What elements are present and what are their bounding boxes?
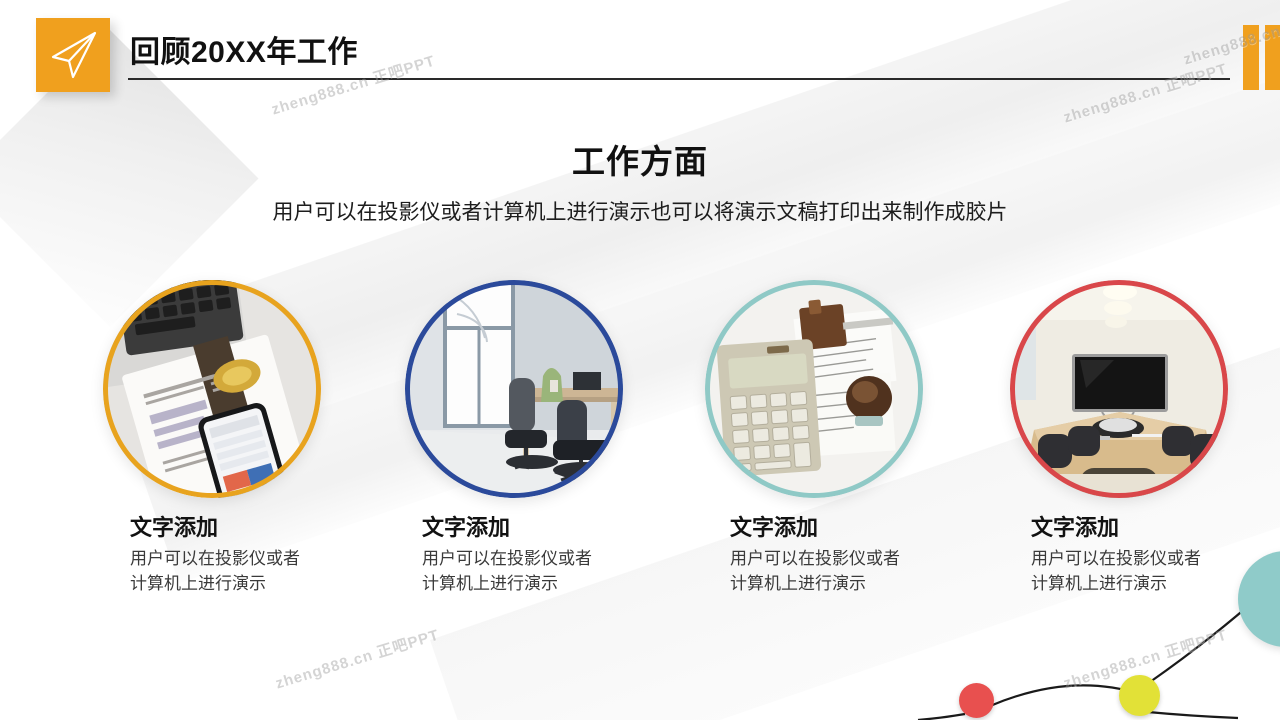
office-desk-window-photo [405,280,623,498]
page-title: 回顾20XX年工作 [130,27,358,71]
card-title: 文字添加 [422,514,700,542]
card-title: 文字添加 [1031,514,1280,542]
card-photo-circle [1010,280,1228,498]
card-body: 用户可以在投影仪或者 计算机上进行演示 [130,546,395,597]
calculator-notes-stamp-photo [705,280,923,498]
card-photo-circle [103,280,321,498]
card-body: 用户可以在投影仪或者 计算机上进行演示 [422,546,700,597]
content-card[interactable]: 文字添加 用户可以在投影仪或者 计算机上进行演示 [700,280,1000,597]
card-body: 用户可以在投影仪或者 计算机上进行演示 [1031,546,1280,597]
content-card[interactable]: 文字添加 用户可以在投影仪或者 计算机上进行演示 [95,280,395,597]
card-caption: 文字添加 用户可以在投影仪或者 计算机上进行演示 [1005,514,1280,597]
logo-tile [36,18,110,92]
watermark: zheng888.cn 正吧PPT [273,624,442,694]
section-subheading: 用户可以在投影仪或者计算机上进行演示也可以将演示文稿打印出来制作成胶片 [0,196,1280,226]
watermark: zheng888.cn 正吧PPT [1061,58,1230,128]
yellow-dot-decoration [1119,675,1160,716]
card-caption: 文字添加 用户可以在投影仪或者 计算机上进行演示 [700,514,1000,597]
meeting-room-tv-photo [1010,280,1228,498]
card-photo-circle [405,280,623,498]
card-body: 用户可以在投影仪或者 计算机上进行演示 [730,546,1000,597]
card-caption: 文字添加 用户可以在投影仪或者 计算机上进行演示 [95,514,395,597]
section-heading: 工作方面 [0,135,1280,183]
slide-canvas: 回顾20XX年工作 工作方面 用户可以在投影仪或者计算机上进行演示也可以将演示文… [0,0,1280,720]
watermark: zheng888.cn 正吧PPT [1061,624,1230,694]
red-dot-decoration [959,683,994,718]
card-title: 文字添加 [730,514,1000,542]
content-card[interactable]: 文字添加 用户可以在投影仪或者 计算机上进行演示 [400,280,700,597]
laptop-clipboard-phone-photo [103,280,321,498]
card-title: 文字添加 [130,514,395,542]
content-card[interactable]: 文字添加 用户可以在投影仪或者 计算机上进行演示 [1005,280,1280,597]
card-caption: 文字添加 用户可以在投影仪或者 计算机上进行演示 [400,514,700,597]
card-photo-circle [705,280,923,498]
title-divider [128,78,1230,80]
